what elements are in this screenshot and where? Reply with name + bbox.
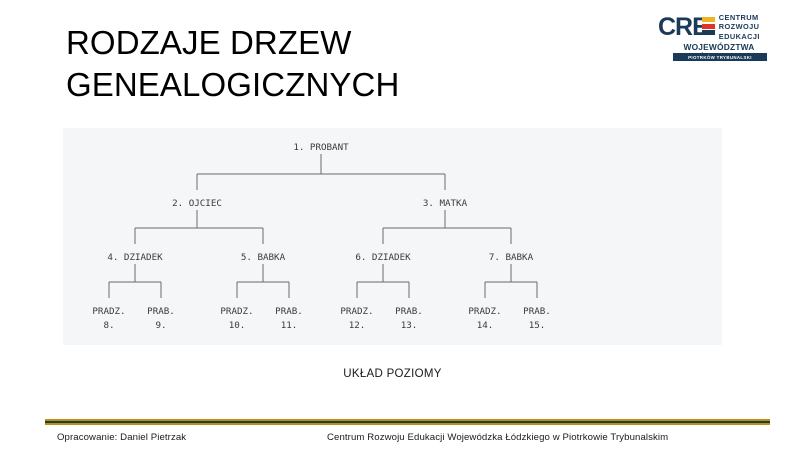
tree-node-pradz-8-number: 8. bbox=[103, 320, 114, 331]
tree-node-prab-11-number: 11. bbox=[281, 320, 298, 331]
logo-bar-navy bbox=[702, 30, 715, 35]
tree-node-group-gen2: 4. DZIADEK 5. BABKA 6. DZIADEK 7. BABKA bbox=[107, 252, 533, 263]
logo-bar-red bbox=[702, 24, 715, 29]
tree-node-prab-11-title[interactable]: PRAB. bbox=[275, 306, 303, 317]
logo-line-3: EDUKACJI bbox=[719, 32, 760, 41]
footer-author-name: Daniel Pietrzak bbox=[120, 432, 186, 443]
footer-divider bbox=[45, 419, 770, 426]
tree-node-prab-15-title[interactable]: PRAB. bbox=[523, 306, 551, 317]
tree-node-prab-9-number: 9. bbox=[155, 320, 166, 331]
tree-node-pradz-14-title[interactable]: PRADZ. bbox=[468, 306, 501, 317]
logo-mark: CRE CENTRUM ROZWOJU EDUKACJI bbox=[655, 9, 783, 45]
tree-node-dziadek-6[interactable]: 6. DZIADEK bbox=[355, 252, 411, 263]
tree-node-probant[interactable]: 1. PROBANT bbox=[293, 142, 349, 153]
page-title: RODZAJE DRZEW GENEALOGICZNYCH bbox=[66, 22, 626, 106]
tree-node-group-gen0: 1. PROBANT bbox=[293, 142, 349, 153]
tree-node-pradz-10-number: 10. bbox=[229, 320, 246, 331]
logo-color-bars-icon bbox=[702, 17, 715, 37]
tree-node-matka[interactable]: 3. MATKA bbox=[423, 198, 468, 209]
tree-node-prab-15-number: 15. bbox=[529, 320, 546, 331]
tree-node-babka-7[interactable]: 7. BABKA bbox=[489, 252, 534, 263]
tree-node-group-gen1: 2. OJCIEC 3. MATKA bbox=[172, 198, 467, 209]
tree-node-group-gen3: PRADZ. 8. PRAB. 9. PRADZ. 10. PRAB. 11. … bbox=[92, 306, 550, 331]
footer-author: Opracowanie: Daniel Pietrzak bbox=[57, 432, 186, 443]
cre-logo: CRE CENTRUM ROZWOJU EDUKACJI WOJEWÓDZTWA… bbox=[655, 9, 783, 61]
tree-node-pradz-14-number: 14. bbox=[477, 320, 494, 331]
logo-expansion-text: CENTRUM ROZWOJU EDUKACJI bbox=[719, 13, 760, 40]
genealogy-tree-svg: 1. PROBANT 2. OJCIEC 3. MATKA 4. DZIADEK… bbox=[63, 128, 722, 345]
tree-node-prab-13-title[interactable]: PRAB. bbox=[395, 306, 423, 317]
tree-node-prab-13-number: 13. bbox=[401, 320, 418, 331]
tree-node-dziadek-4[interactable]: 4. DZIADEK bbox=[107, 252, 163, 263]
tree-connectors bbox=[109, 154, 537, 298]
tree-node-pradz-12-title[interactable]: PRADZ. bbox=[340, 306, 373, 317]
logo-line-1: CENTRUM bbox=[719, 13, 760, 22]
logo-bar-yellow bbox=[702, 17, 715, 22]
logo-acronym: CRE bbox=[658, 15, 708, 40]
tree-node-pradz-8-title[interactable]: PRADZ. bbox=[92, 306, 125, 317]
tree-node-pradz-10-title[interactable]: PRADZ. bbox=[220, 306, 253, 317]
diagram-caption: UKŁAD POZIOMY bbox=[63, 368, 722, 380]
tree-node-babka-5[interactable]: 5. BABKA bbox=[241, 252, 286, 263]
footer-author-label: Opracowanie: bbox=[57, 432, 117, 443]
logo-city-band: PIOTRKÓW TRYBUNALSKI bbox=[673, 53, 767, 61]
tree-node-ojciec[interactable]: 2. OJCIEC bbox=[172, 198, 222, 209]
tree-node-pradz-12-number: 12. bbox=[349, 320, 366, 331]
footer-rule-gold-bottom bbox=[45, 423, 770, 426]
tree-node-prab-9-title[interactable]: PRAB. bbox=[147, 306, 175, 317]
logo-city-text: PIOTRKÓW TRYBUNALSKI bbox=[688, 55, 752, 60]
genealogy-diagram-panel: 1. PROBANT 2. OJCIEC 3. MATKA 4. DZIADEK… bbox=[63, 128, 722, 345]
logo-line-2: ROZWOJU bbox=[719, 22, 760, 31]
footer-organization: Centrum Rozwoju Edukacji Wojewódzka Łódz… bbox=[327, 432, 668, 443]
